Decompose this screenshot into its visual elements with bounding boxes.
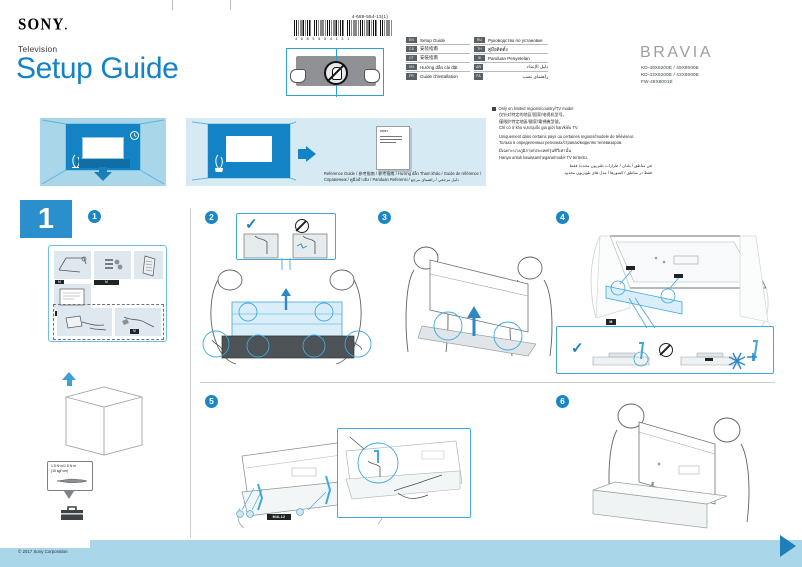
reference-guide-caption: Reference Guide / 参考指南 / 參考指南 / Hướng dẫ… xyxy=(324,171,482,183)
screws-illustration xyxy=(101,256,125,272)
language-row: FR Guide d'installation xyxy=(406,72,470,81)
footer-notch xyxy=(0,540,90,548)
step3-lift-upright-illustration xyxy=(400,240,560,370)
screwdriver-icon xyxy=(55,476,89,483)
stand-bracket-illustration xyxy=(56,254,89,276)
hand-right-shape xyxy=(364,69,380,83)
crop-mark xyxy=(172,0,173,10)
footer-band xyxy=(0,540,802,567)
stand-alignment-illustration xyxy=(557,327,775,375)
language-row: ID Panduan Penyetelan xyxy=(474,54,548,63)
column-separator xyxy=(190,208,191,538)
language-list-right: RU Руководство по установке TH คู่มือติด… xyxy=(474,36,548,81)
language-code: FR xyxy=(406,73,417,79)
step2-two-person-lift-illustration xyxy=(202,268,372,373)
language-row: CS 安装指南 xyxy=(406,45,470,54)
grip-detail-illustration xyxy=(237,214,337,261)
language-row: FA راهنمای نصب xyxy=(474,72,548,81)
step2-grip-inset: ✓ xyxy=(236,213,336,260)
language-name: คู่มือติดตั้ง xyxy=(488,46,508,53)
barcode-bars xyxy=(294,20,392,36)
circle-number-3: 3 xyxy=(378,211,391,224)
accessories-box: M M M xyxy=(48,245,167,342)
part-tag: M xyxy=(94,280,119,285)
screw-detail-illustration xyxy=(338,429,472,519)
language-name: Setup Guide xyxy=(420,38,445,43)
language-row: CT 安裝指南 xyxy=(406,54,470,63)
sony-logo: SONY. xyxy=(18,16,68,35)
region-note-block: Only on limited regions/country/TV model… xyxy=(492,106,652,176)
inset-connector-lines xyxy=(280,258,294,270)
step6-place-on-furniture-illustration xyxy=(575,400,785,540)
language-code: AR xyxy=(474,64,483,70)
circle-number-4: 4 xyxy=(556,211,569,224)
language-code: FA xyxy=(474,73,483,79)
hand-left-shape xyxy=(290,69,306,83)
note-line: Chỉ có ở khu vực/quốc gia giới hạn/kiểu … xyxy=(492,125,652,131)
language-list-left: EN Setup Guide CS 安装指南 CT 安裝指南 VN Hướng … xyxy=(406,36,470,81)
part-tag: M xyxy=(130,329,139,334)
barcode-block: 4-689-554-13(1) 4 6 8 9 5 5 4 1 3 1 xyxy=(290,14,394,41)
tv-illustration xyxy=(82,137,124,159)
language-name: دليل الإعداد xyxy=(486,64,548,70)
reference-guide-document-icon: SONY xyxy=(376,126,410,170)
step4-alignment-inset: ✓ xyxy=(556,326,774,374)
stand-part-tag: M xyxy=(606,319,616,325)
language-name: Hướng dẫn cài đặt xyxy=(420,65,458,70)
step4-tv-facedown-illustration xyxy=(570,222,780,332)
barcode-digits: 4 6 8 9 5 5 4 1 3 1 xyxy=(295,37,394,41)
circle-number-2: 2 xyxy=(205,211,218,224)
language-code: TH xyxy=(474,46,485,52)
setup-guide-page: SONY. Television Setup Guide 4-689-554-1… xyxy=(0,0,802,567)
language-row: TH คู่มือติดตั้ง xyxy=(474,45,548,54)
right-arrow-head-icon xyxy=(306,146,316,162)
carton-illustration xyxy=(58,383,150,458)
step5-screw-detail-inset xyxy=(337,428,471,518)
language-code: ID xyxy=(474,55,485,61)
circle-number-5: 5 xyxy=(205,395,218,408)
reference-guide-banner: SONY Reference Guide / 参考指南 / 參考指南 / Hướ… xyxy=(186,118,486,186)
cable-illustration xyxy=(120,312,160,334)
language-row: EN Setup Guide xyxy=(406,36,470,45)
language-row: VN Hướng dẫn cài đặt xyxy=(406,63,470,72)
part-number: 4-689-554-13(1) xyxy=(290,14,394,19)
circle-number-1: 1 xyxy=(88,210,101,223)
clock-icon xyxy=(130,131,139,140)
up-arrow-head-icon xyxy=(62,372,76,380)
language-code: CT xyxy=(406,55,417,61)
torque-value: 1.5 N·m/1.5 N·m (15 kgf·cm) xyxy=(51,464,76,473)
language-code: EN xyxy=(406,37,417,43)
tv-illustration xyxy=(226,136,272,162)
page-turn-arrow-icon xyxy=(780,535,796,557)
row-separator xyxy=(200,382,775,383)
language-name: راهنمای نصب xyxy=(486,74,548,80)
language-name: Guide d'installation xyxy=(420,74,458,79)
bravia-logo: BRAVIA xyxy=(640,44,713,62)
torque-callout: 1.5 N·m/1.5 N·m (15 kgf·cm) xyxy=(47,461,93,491)
model-list: KD-49X8200E / 49X8000E KD-43X8200E / 43X… xyxy=(641,64,699,85)
language-name: 安裝指南 xyxy=(420,55,438,61)
language-row: AR دليل الإعداد xyxy=(474,63,548,72)
screw-size-tag: M4L12 xyxy=(267,514,291,520)
language-code: CS xyxy=(406,46,417,52)
copyright-text: © 2017 Sony Corporation xyxy=(18,549,68,554)
toolbox-icon xyxy=(60,505,84,521)
square-bullet-icon xyxy=(492,107,496,111)
note-line: فقط در مناطق / کشورها / مدل های تلویزیون… xyxy=(492,170,652,176)
plant-illustration xyxy=(212,152,223,172)
down-arrow-head-icon xyxy=(94,172,112,181)
page-title: Setup Guide xyxy=(16,52,178,86)
plant-illustration xyxy=(69,152,79,168)
model-number: FW-49X8001E xyxy=(641,78,699,85)
ac-adapter-illustration xyxy=(62,312,110,334)
doc-sony-logo: SONY xyxy=(380,130,389,133)
language-name: Руководство по установке xyxy=(488,38,543,43)
no-touch-icon xyxy=(324,61,348,85)
language-code: RU xyxy=(474,37,485,43)
unpacking-banner xyxy=(40,118,166,186)
callout-tail xyxy=(64,491,74,499)
language-code: VN xyxy=(406,64,417,70)
remote-control-illustration xyxy=(139,254,161,278)
language-name: Panduan Penyetelan xyxy=(488,56,530,61)
inset-connector-lines xyxy=(625,296,665,330)
circle-number-6: 6 xyxy=(556,395,569,408)
language-name: 安装指南 xyxy=(420,46,438,52)
note-line: Только в определенных регионах/странах/м… xyxy=(492,140,652,146)
model-number: KD-49X8200E / 49X8000E xyxy=(641,64,699,71)
crop-mark xyxy=(230,0,231,10)
do-not-touch-screen-illustration xyxy=(286,48,384,96)
language-row: RU Руководство по установке xyxy=(474,36,548,45)
sony-wordmark: SONY xyxy=(18,16,64,34)
model-number: KD-43X8200E / 43X8000E xyxy=(641,71,699,78)
step-1-number: 1 xyxy=(20,200,72,238)
note-line: Hanya untuk kawasan/negara/model TV tert… xyxy=(492,155,652,161)
optional-accessories-area: M xyxy=(53,304,164,340)
